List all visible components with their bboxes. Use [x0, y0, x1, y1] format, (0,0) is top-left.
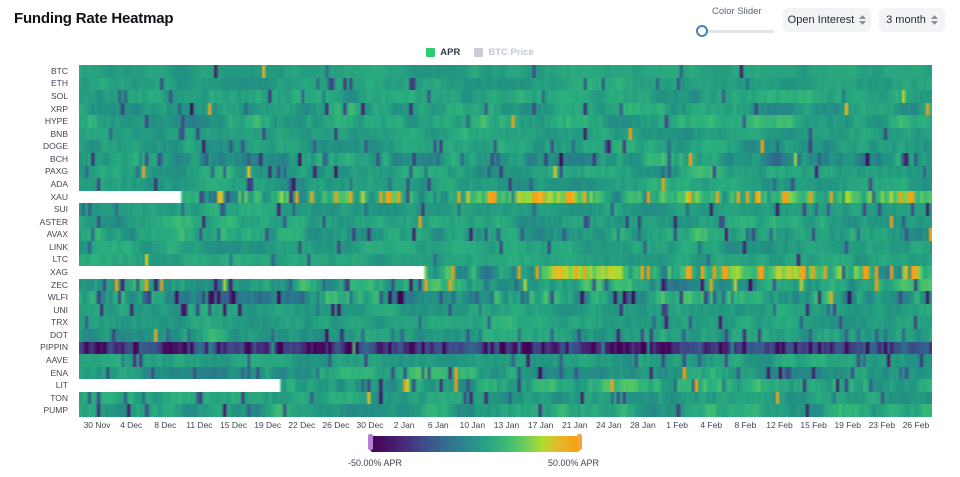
range-dropdown[interactable]: 3 month	[879, 8, 945, 32]
x-axis: 30 Nov4 Dec8 Dec11 Dec15 Dec19 Dec22 Dec…	[0, 420, 960, 434]
x-axis-label-5: 19 Dec	[254, 420, 281, 430]
legend-label-apr: APR	[440, 47, 460, 58]
y-axis-label-aave: AAVE	[46, 356, 68, 365]
header-bar: Funding Rate Heatmap Color Slider Open I…	[0, 0, 960, 44]
colorbar-handle-max[interactable]	[577, 434, 582, 450]
y-axis-label-ada: ADA	[51, 180, 68, 189]
x-axis-label-22: 19 Feb	[834, 420, 860, 430]
x-axis-label-18: 4 Feb	[700, 420, 722, 430]
x-axis-label-14: 21 Jan	[562, 420, 588, 430]
metric-dropdown-label: Open Interest	[788, 14, 855, 26]
colorbar-gradient[interactable]	[370, 436, 580, 452]
y-axis-label-sui: SUI	[54, 205, 68, 214]
y-axis-label-doge: DOGE	[43, 142, 68, 151]
x-axis-label-19: 8 Feb	[734, 420, 756, 430]
x-axis-label-6: 22 Dec	[288, 420, 315, 430]
range-dropdown-label: 3 month	[886, 14, 926, 26]
x-axis-label-17: 1 Feb	[666, 420, 688, 430]
heatmap-plot: BTCETHSOLXRPHYPEBNBDOGEBCHPAXGADAXAUSUIA…	[0, 62, 960, 422]
colorbar-handle-min[interactable]	[368, 434, 373, 450]
x-axis-label-16: 28 Jan	[630, 420, 656, 430]
y-axis-label-bnb: BNB	[51, 130, 68, 139]
y-axis-label-avax: AVAX	[47, 230, 68, 239]
x-axis-label-15: 24 Jan	[596, 420, 622, 430]
y-axis-label-ena: ENA	[51, 369, 68, 378]
color-slider-handle[interactable]	[696, 25, 708, 37]
x-axis-label-12: 13 Jan	[494, 420, 520, 430]
y-axis-label-link: LINK	[49, 243, 68, 252]
y-axis-label-dot: DOT	[50, 331, 68, 340]
x-axis-label-8: 30 Dec	[357, 420, 384, 430]
x-axis-label-13: 17 Jan	[528, 420, 554, 430]
stepper-icon	[931, 15, 938, 25]
x-axis-label-20: 12 Feb	[766, 420, 792, 430]
y-axis-label-xag: XAG	[50, 268, 68, 277]
x-axis-label-2: 8 Dec	[154, 420, 176, 430]
x-axis-label-21: 15 Feb	[800, 420, 826, 430]
y-axis-label-paxg: PAXG	[45, 167, 68, 176]
y-axis-label-sol: SOL	[51, 92, 68, 101]
y-axis-label-xau: XAU	[51, 193, 68, 202]
y-axis-label-zec: ZEC	[51, 281, 68, 290]
x-axis-label-24: 26 Feb	[903, 420, 929, 430]
colorbar-min-label: -50.00% APR	[348, 458, 402, 468]
y-axis-label-aster: ASTER	[40, 218, 68, 227]
chart-legend: APR BTC Price	[0, 45, 960, 59]
stepper-icon	[859, 15, 866, 25]
heatmap-row-pump[interactable]	[79, 404, 932, 417]
y-axis-label-wlfi: WLFI	[48, 293, 68, 302]
x-axis-label-9: 2 Jan	[394, 420, 415, 430]
y-axis-label-eth: ETH	[51, 79, 68, 88]
x-axis-label-7: 26 Dec	[322, 420, 349, 430]
legend-swatch-btc-price	[474, 48, 483, 57]
color-slider-label: Color Slider	[712, 6, 762, 17]
y-axis-label-lit: LIT	[56, 381, 68, 390]
y-axis-label-bch: BCH	[50, 155, 68, 164]
y-axis-label-uni: UNI	[53, 306, 68, 315]
y-axis: BTCETHSOLXRPHYPEBNBDOGEBCHPAXGADAXAUSUIA…	[0, 62, 76, 417]
x-axis-label-1: 4 Dec	[120, 420, 142, 430]
color-slider-control[interactable]: Color Slider	[696, 6, 776, 36]
y-axis-label-ton: TON	[50, 394, 68, 403]
y-axis-label-hype: HYPE	[45, 117, 68, 126]
colorbar-max-label: 50.00% APR	[548, 458, 599, 468]
legend-label-btc-price: BTC Price	[488, 47, 533, 58]
x-axis-label-4: 15 Dec	[220, 420, 247, 430]
x-axis-label-10: 6 Jan	[428, 420, 449, 430]
y-axis-label-pump: PUMP	[43, 406, 68, 415]
legend-item-apr[interactable]: APR	[426, 47, 460, 58]
color-slider-track[interactable]	[706, 30, 774, 33]
y-axis-label-xrp: XRP	[51, 105, 68, 114]
y-axis-label-trx: TRX	[51, 318, 68, 327]
y-axis-label-btc: BTC	[51, 67, 68, 76]
x-axis-label-0: 30 Nov	[84, 420, 111, 430]
y-axis-label-pippin: PIPPIN	[40, 343, 68, 352]
x-axis-label-23: 23 Feb	[869, 420, 895, 430]
page-title: Funding Rate Heatmap	[14, 10, 173, 27]
x-axis-label-11: 10 Jan	[460, 420, 486, 430]
x-axis-label-3: 11 Dec	[186, 420, 212, 430]
heatmap-grid[interactable]: coinglass	[79, 65, 932, 417]
metric-dropdown[interactable]: Open Interest	[783, 8, 871, 32]
legend-item-btc-price[interactable]: BTC Price	[474, 47, 533, 58]
legend-swatch-apr	[426, 48, 435, 57]
y-axis-label-ltc: LTC	[53, 255, 68, 264]
colorbar-control[interactable]: -50.00% APR 50.00% APR	[0, 434, 960, 474]
